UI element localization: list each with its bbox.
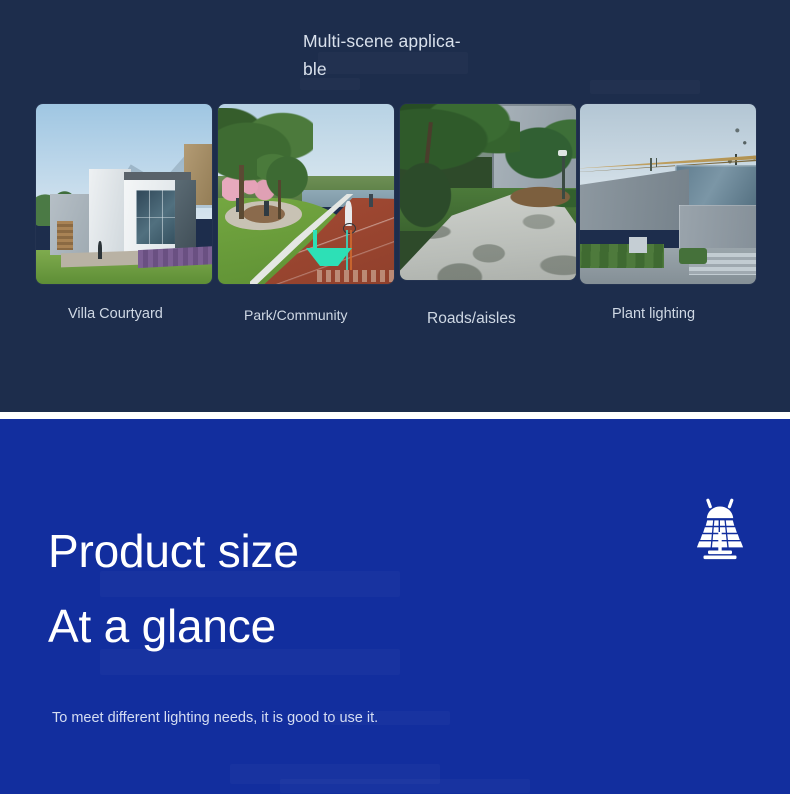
- thumbnail-caption-roads-aisles: Roads/aisles: [427, 310, 516, 328]
- background-artifact: [230, 764, 440, 784]
- product-size-headline: Product size At a glance: [48, 514, 299, 664]
- thumbnail-caption-park-community: Park/Community: [244, 307, 347, 323]
- villa-courtyard-photo: [36, 104, 212, 284]
- headline-line-2: At a glance: [48, 589, 299, 664]
- plant-lighting-photo: [580, 104, 756, 284]
- section-title: Multi-scene applica- ble: [303, 27, 503, 83]
- multi-scene-section: Multi-scene applica- ble: [0, 0, 790, 412]
- solar-panel-icon: [688, 498, 752, 560]
- headline-line-1: Product size: [48, 514, 299, 589]
- scene-thumbnail-park-community[interactable]: [218, 104, 394, 284]
- section-title-line-1: Multi-scene applica-: [303, 27, 503, 55]
- background-artifact: [590, 80, 700, 94]
- roads-aisles-photo: [400, 104, 576, 280]
- section-divider: [0, 412, 790, 419]
- park-community-photo: [218, 104, 394, 284]
- thumbnail-caption-villa-courtyard: Villa Courtyard: [68, 306, 163, 322]
- background-artifact: [280, 779, 530, 793]
- product-size-subtitle: To meet different lighting needs, it is …: [52, 710, 378, 726]
- scene-thumbnail-plant-lighting[interactable]: [580, 104, 756, 284]
- thumbnail-caption-plant-lighting: Plant lighting: [612, 306, 695, 322]
- section-title-line-2: ble: [303, 55, 503, 83]
- scene-thumbnail-row: [0, 104, 790, 284]
- scene-thumbnail-roads-aisles[interactable]: [400, 104, 576, 280]
- scene-thumbnail-villa-courtyard[interactable]: [36, 104, 212, 284]
